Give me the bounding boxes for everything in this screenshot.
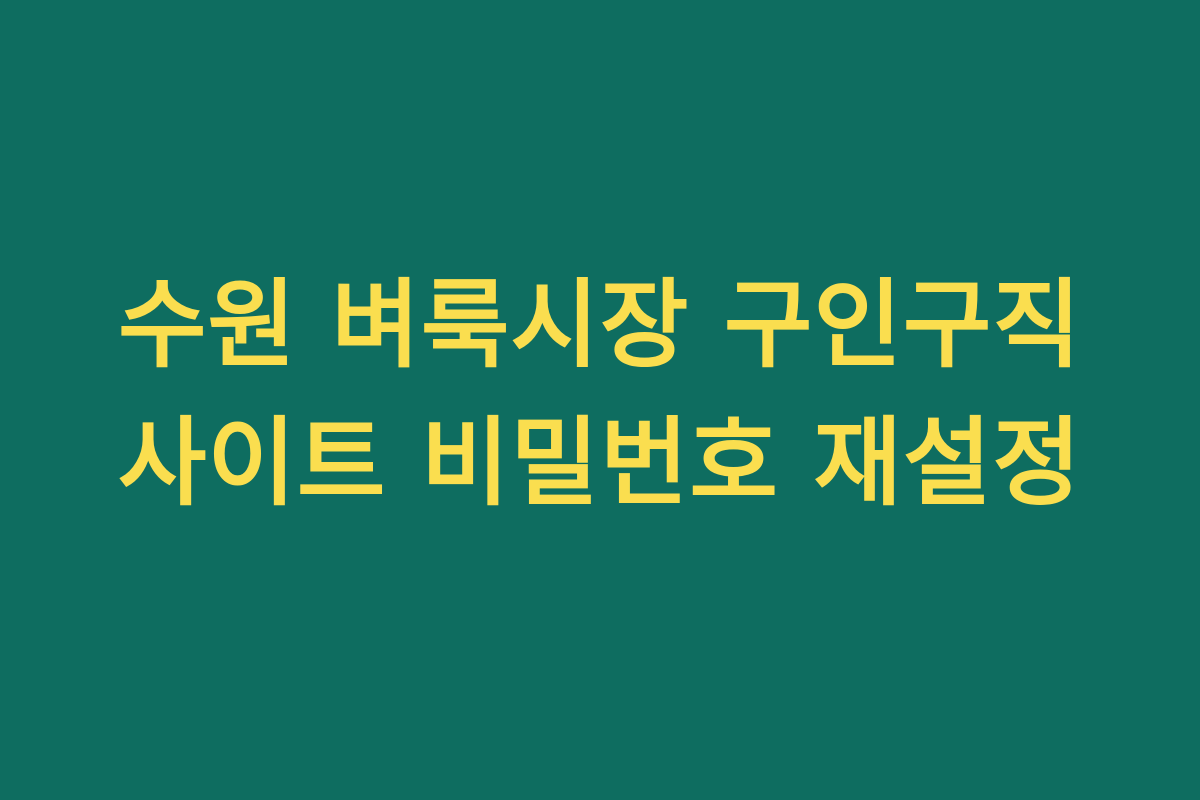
banner-canvas: 수원 벼룩시장 구인구직 사이트 비밀번호 재설정 <box>0 0 1200 800</box>
headline-block: 수원 벼룩시장 구인구직 사이트 비밀번호 재설정 <box>0 257 1200 532</box>
headline-line-1: 수원 벼룩시장 구인구직 <box>40 257 1160 393</box>
headline-line-2: 사이트 비밀번호 재설정 <box>40 395 1160 531</box>
